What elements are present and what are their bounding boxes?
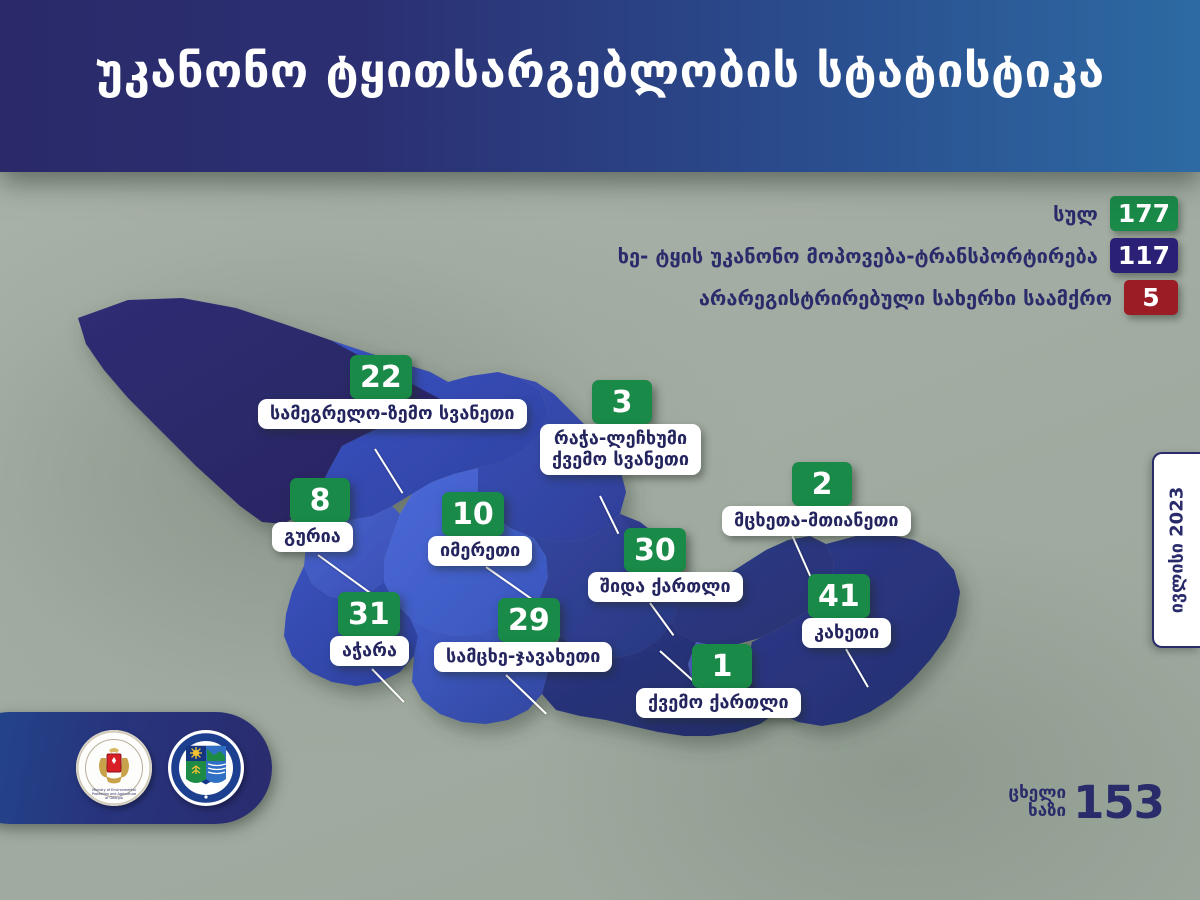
region-label-6: კახეთი (802, 618, 891, 648)
region-count-3: 10 (442, 492, 504, 536)
legend-row-total: სულ 177 (618, 196, 1178, 231)
date-label: ივლისი 2023 (1167, 487, 1188, 614)
header-banner: უკანონო ტყითსარგებლობის სტატისტიკა (0, 0, 1200, 172)
infographic-canvas: უკანონო ტყითსარგებლობის სტატისტიკა (0, 0, 1200, 900)
region-count-5: 30 (624, 528, 686, 572)
region-name-pill: ქვემო ქართლი (636, 688, 801, 718)
region-count-badge: 29 (498, 598, 560, 642)
legend-label-illegal-logging-transport: ხე- ტყის უკანონო მოპოვება-ტრანსპორტირება (618, 244, 1098, 268)
legend: სულ 177 ხე- ტყის უკანონო მოპოვება-ტრანსპ… (618, 196, 1178, 322)
region-label-5: შიდა ქართლი (588, 572, 743, 602)
legend-label-total: სულ (1053, 202, 1098, 226)
legend-row-illegal-logging-transport: ხე- ტყის უკანონო მოპოვება-ტრანსპორტირება… (618, 238, 1178, 273)
region-count-1: 3 (592, 380, 652, 424)
region-name-pill: სამცხე-ჯავახეთი (434, 642, 612, 672)
region-count-4: 2 (792, 462, 852, 506)
region-count-8: 29 (498, 598, 560, 642)
region-label-9: ქვემო ქართლი (636, 688, 801, 718)
region-label-1: რაჭა-ლეჩხუმიქვემო სვანეთი (540, 424, 701, 475)
region-name-pill: სამეგრელო-ზემო სვანეთი (258, 399, 527, 429)
hotline-label-line2: ხაზი (1009, 803, 1067, 820)
hotline-label: ცხელი ხაზი (1009, 785, 1067, 820)
region-count-badge: 8 (290, 478, 350, 522)
legend-badge-total: 177 (1110, 196, 1178, 231)
region-count-badge: 10 (442, 492, 504, 536)
hotline-number: 153 (1073, 776, 1164, 829)
region-count-badge: 30 (624, 528, 686, 572)
department-of-environmental-supervision-seal-icon (168, 730, 244, 806)
region-name-pill: აჭარა (330, 636, 409, 666)
page-title: უკანონო ტყითსარგებლობის სტატისტიკა (0, 46, 1200, 98)
legend-badge-illegal-logging-transport: 117 (1110, 238, 1178, 273)
region-label-2: გურია (272, 522, 353, 552)
region-label-4: მცხეთა-მთიანეთი (722, 506, 911, 536)
region-count-badge: 22 (350, 355, 412, 399)
region-label-8: სამცხე-ჯავახეთი (434, 642, 612, 672)
hotline: ცხელი ხაზი 153 (1009, 776, 1164, 829)
region-name-pill: რაჭა-ლეჩხუმიქვემო სვანეთი (540, 424, 701, 475)
region-count-6: 41 (808, 574, 870, 618)
svg-text:of Georgia: of Georgia (105, 796, 123, 800)
region-count-badge: 31 (338, 592, 400, 636)
organization-logos: Ministry of Environmental Protection and… (0, 712, 272, 824)
region-count-badge: 2 (792, 462, 852, 506)
region-count-9: 1 (692, 644, 752, 688)
region-count-badge: 41 (808, 574, 870, 618)
region-name-pill: გურია (272, 522, 353, 552)
region-label-3: იმერეთი (428, 536, 532, 566)
region-count-7: 31 (338, 592, 400, 636)
region-name-pill: მცხეთა-მთიანეთი (722, 506, 911, 536)
region-name-pill: კახეთი (802, 618, 891, 648)
region-count-0: 22 (350, 355, 412, 399)
ministry-of-environmental-protection-and-agriculture-seal-icon: Ministry of Environmental Protection and… (76, 730, 152, 806)
region-name-pill: შიდა ქართლი (588, 572, 743, 602)
hotline-label-line1: ცხელი (1009, 785, 1067, 802)
region-label-0: სამეგრელო-ზემო სვანეთი (258, 399, 527, 429)
date-tab: ივლისი 2023 (1152, 452, 1200, 648)
legend-row-unregistered-sawmill: არარეგისტრირებული სახერხი საამქრო 5 (618, 280, 1178, 315)
region-count-2: 8 (290, 478, 350, 522)
region-count-badge: 3 (592, 380, 652, 424)
legend-label-unregistered-sawmill: არარეგისტრირებული სახერხი საამქრო (699, 286, 1112, 310)
region-count-badge: 1 (692, 644, 752, 688)
legend-badge-unregistered-sawmill: 5 (1124, 280, 1178, 315)
region-name-pill: იმერეთი (428, 536, 532, 566)
region-label-7: აჭარა (330, 636, 409, 666)
